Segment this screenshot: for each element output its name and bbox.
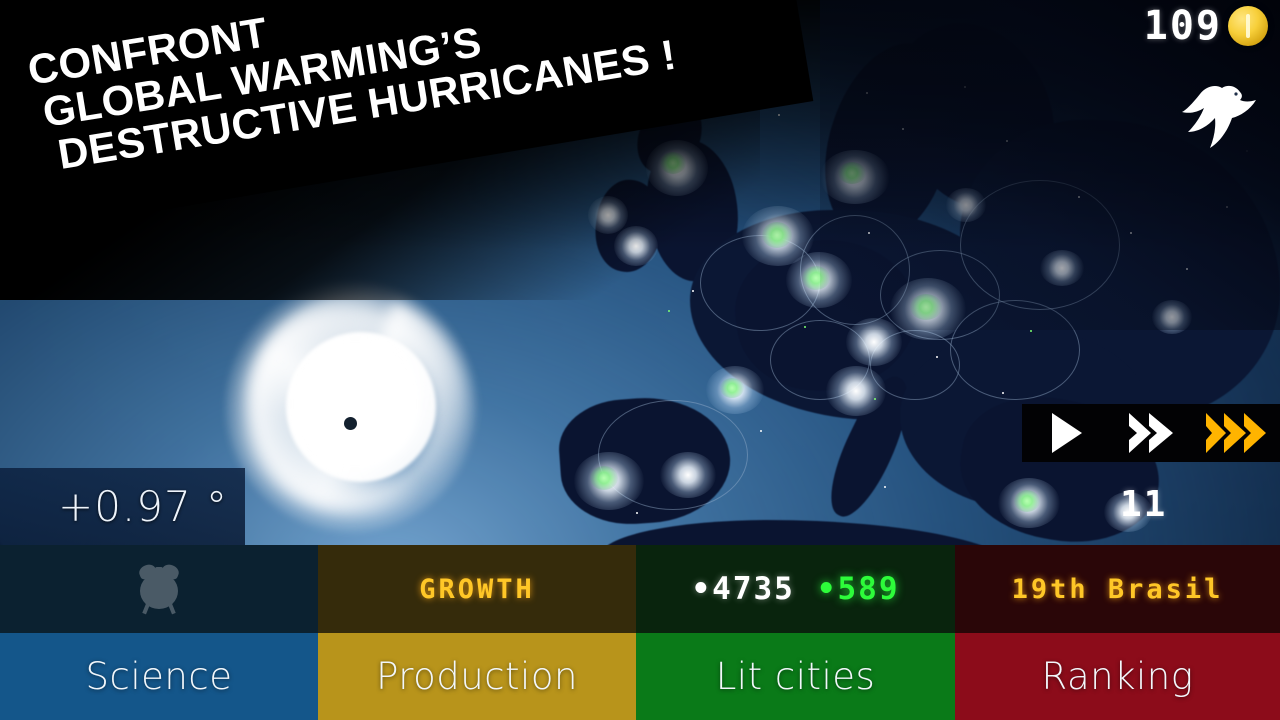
hurricane-eye bbox=[344, 417, 357, 430]
tab-lit-cities[interactable]: Lit cities bbox=[636, 633, 955, 720]
tab-lit-cities-label: Lit cities bbox=[716, 655, 876, 698]
status-bar: GROWTH •4735 •589 19th Brasil bbox=[0, 545, 1280, 633]
tab-bar[interactable]: Science Production Lit cities Ranking bbox=[0, 633, 1280, 720]
year-counter: 11 bbox=[1120, 487, 1167, 523]
dove-icon[interactable] bbox=[1178, 78, 1260, 152]
alarm-clock-icon bbox=[136, 565, 182, 613]
status-lit-cities: •4735 •589 bbox=[636, 545, 955, 633]
play-speed-1x[interactable] bbox=[1022, 404, 1108, 462]
play-speed-2x[interactable] bbox=[1108, 404, 1194, 462]
production-status-text: GROWTH bbox=[419, 574, 535, 605]
game-screen: CONFRONT GLOBAL WARMING’S DESTRUCTIVE HU… bbox=[0, 0, 1280, 720]
coin-counter[interactable]: 109 bbox=[1144, 6, 1268, 46]
year-value: 11 bbox=[1120, 487, 1167, 523]
play-speed-3x[interactable] bbox=[1194, 404, 1280, 462]
space-shadow-right bbox=[820, 0, 1280, 330]
status-science bbox=[0, 545, 318, 633]
coin-amount: 109 bbox=[1144, 6, 1222, 46]
tab-science[interactable]: Science bbox=[0, 633, 318, 720]
tab-ranking[interactable]: Ranking bbox=[955, 633, 1280, 720]
temperature-panel: +0.97 ° bbox=[0, 468, 245, 545]
status-ranking: 19th Brasil bbox=[955, 545, 1280, 633]
tab-science-label: Science bbox=[86, 655, 233, 698]
tab-production-label: Production bbox=[376, 655, 578, 698]
status-production: GROWTH bbox=[318, 545, 636, 633]
lit-cities-delta: •589 bbox=[817, 571, 900, 607]
tab-production[interactable]: Production bbox=[318, 633, 636, 720]
gold-coin-icon bbox=[1228, 6, 1268, 46]
ranking-status-text: 19th Brasil bbox=[1012, 574, 1224, 605]
lit-cities-total: •4735 bbox=[692, 571, 795, 607]
speed-controls[interactable] bbox=[1022, 404, 1280, 462]
temperature-value: +0.97 ° bbox=[58, 482, 228, 531]
hurricane-icon[interactable] bbox=[238, 272, 478, 540]
tab-ranking-label: Ranking bbox=[1042, 655, 1194, 698]
